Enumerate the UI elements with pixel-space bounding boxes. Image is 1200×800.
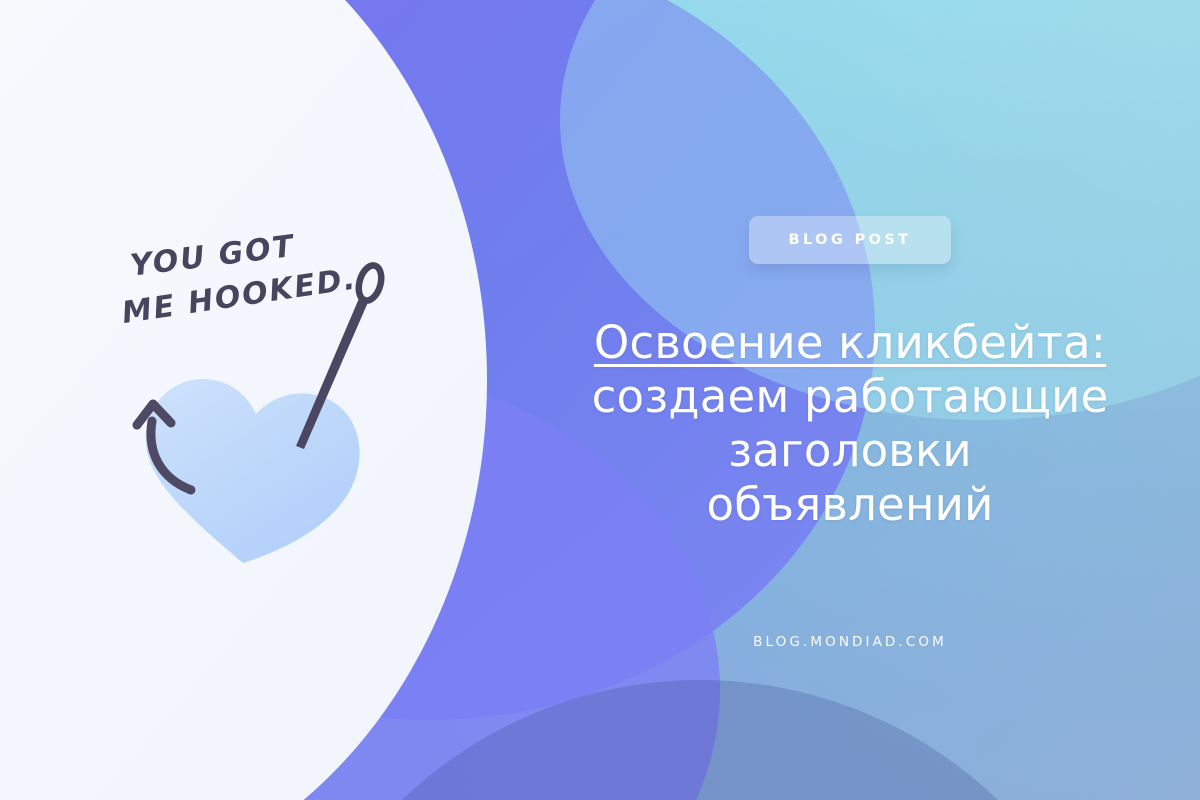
content-column: BLOG POST Освоение кликбейта: создаем ра… <box>500 0 1200 800</box>
blog-post-badge[interactable]: BLOG POST <box>749 216 951 264</box>
page-title-line-1: Освоение кликбейта: <box>550 316 1150 370</box>
page-title-line-3: заголовки <box>550 424 1150 478</box>
page-title-line-4: объявлений <box>550 478 1150 532</box>
blog-post-badge-label: BLOG POST <box>789 232 912 248</box>
footer-website-url[interactable]: BLOG.MONDIAD.COM <box>753 634 947 650</box>
page-title: Освоение кликбейта: создаем работающие з… <box>550 316 1150 532</box>
page-title-line-2: создаем работающие <box>550 370 1150 424</box>
blog-post-banner: YOU GOT ME HOOKED. BLOG POST Освоение кл… <box>0 0 1200 800</box>
